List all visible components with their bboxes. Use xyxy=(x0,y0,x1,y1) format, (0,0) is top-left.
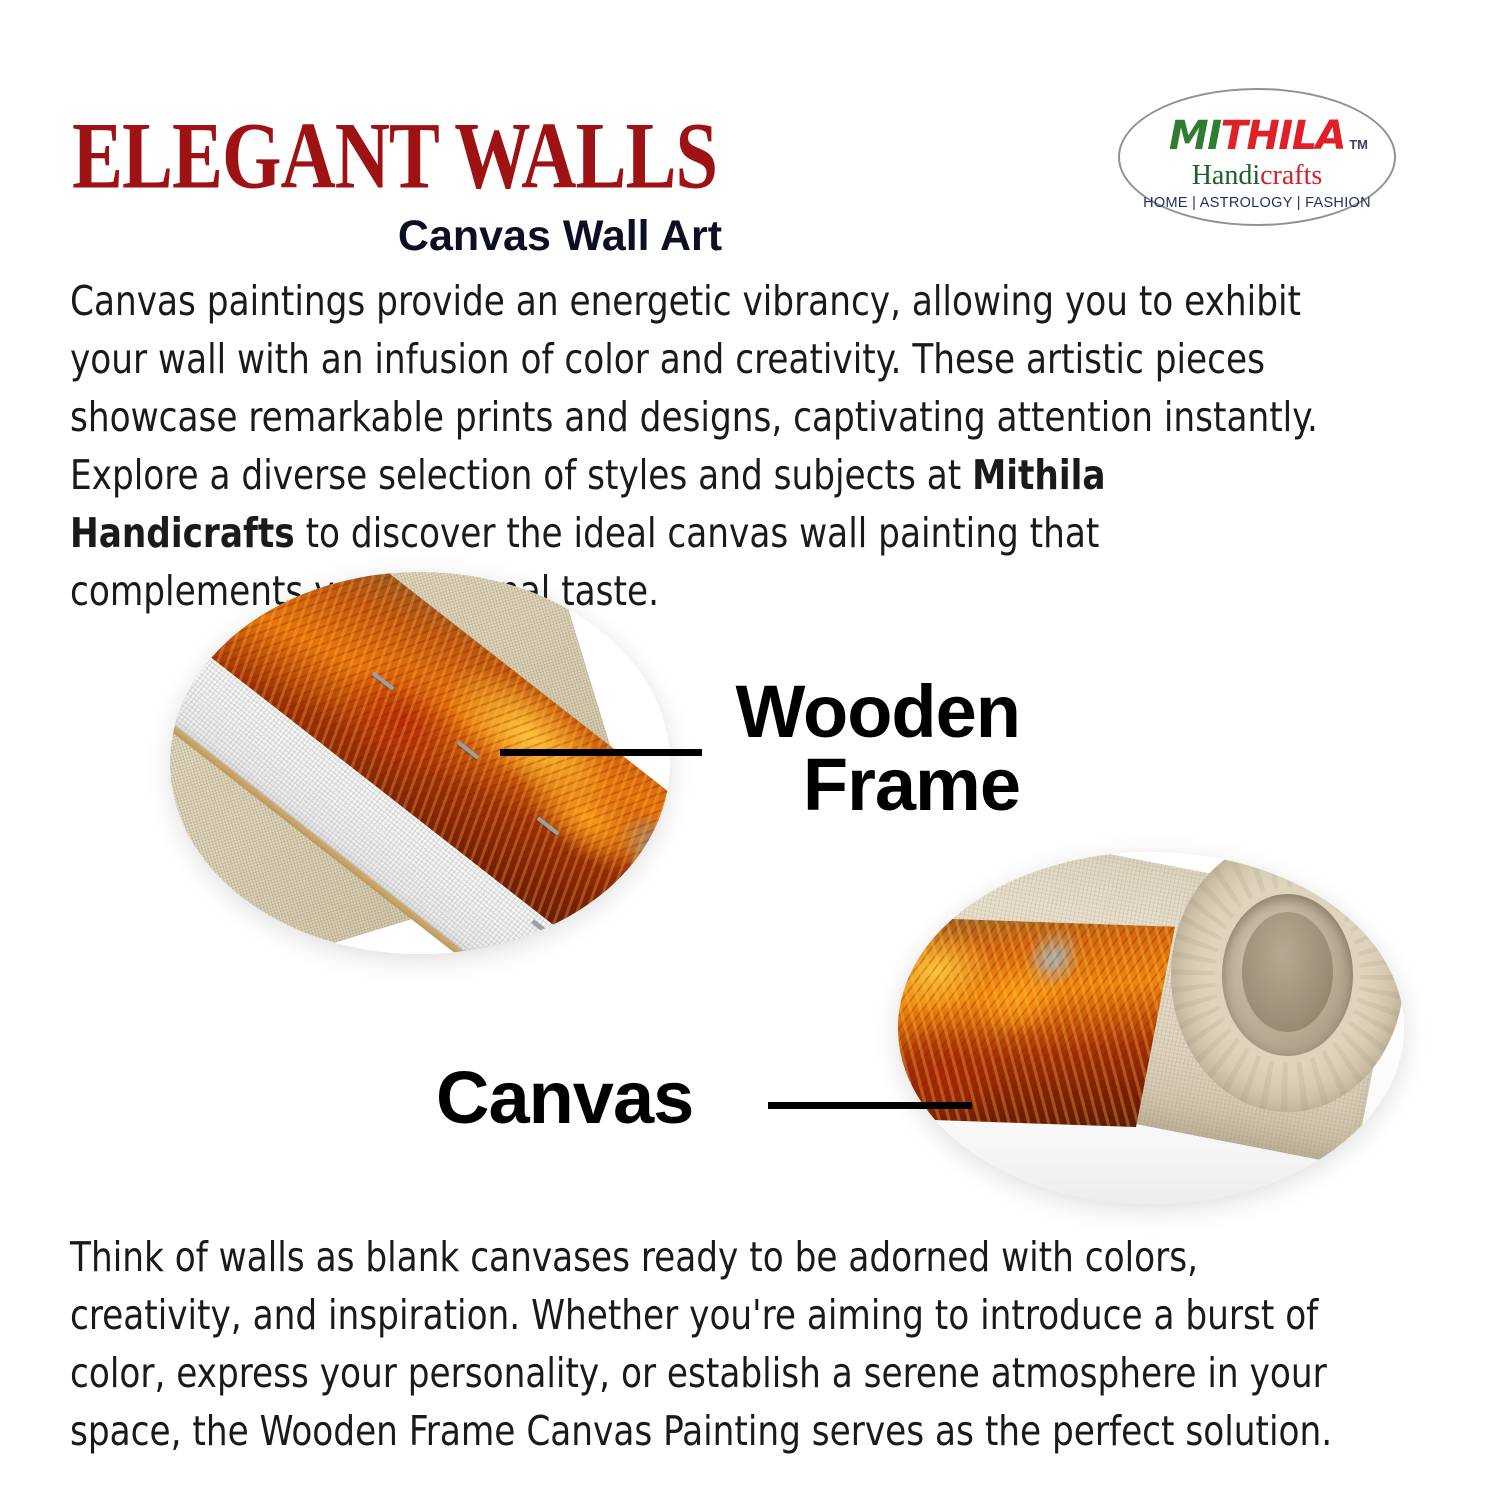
outro-paragraph: Think of walls as blank canvases ready t… xyxy=(70,1228,1337,1460)
canvas-roll-photo-content xyxy=(898,852,1404,1204)
logo-wordmark-part2: THILA xyxy=(1221,113,1346,159)
wooden-frame-leader-line xyxy=(500,749,702,756)
autumn-print-area xyxy=(898,915,1175,1127)
canvas-label: Canvas xyxy=(436,1062,693,1135)
brand-logo: MITHILA TM Handicrafts HOME | ASTROLOGY … xyxy=(1118,88,1396,226)
canvas-leader-line xyxy=(768,1102,972,1109)
intro-paragraph: Canvas paintings provide an energetic vi… xyxy=(70,272,1337,620)
logo-subname: Handicrafts xyxy=(1120,162,1394,190)
cardboard-core-hole xyxy=(1242,912,1333,1032)
canvas-roll-photo xyxy=(898,852,1404,1204)
wooden-frame-label: Wooden Frame xyxy=(700,676,1020,821)
page-title: ELEGANT WALLS xyxy=(72,108,717,203)
logo-wordmark-part1: MI xyxy=(1169,113,1221,159)
trademark-icon: TM xyxy=(1349,138,1368,151)
intro-text-before: Canvas paintings provide an energetic vi… xyxy=(70,277,1318,499)
wooden-frame-label-line2: Frame xyxy=(700,749,1020,822)
page-subtitle: Canvas Wall Art xyxy=(0,212,1500,261)
logo-subname-part2: crafts xyxy=(1260,160,1322,191)
wooden-frame-photo xyxy=(170,572,670,954)
logo-wordmark: MITHILA TM xyxy=(1120,116,1394,156)
logo-tagline: HOME | ASTROLOGY | FASHION xyxy=(1120,195,1394,211)
wooden-frame-label-line1: Wooden xyxy=(700,676,1020,749)
infographic-page: ELEGANT WALLS MITHILA TM Handicrafts HOM… xyxy=(0,0,1500,1500)
logo-subname-part1: Handi xyxy=(1192,160,1260,191)
wooden-frame-photo-content xyxy=(170,572,670,954)
